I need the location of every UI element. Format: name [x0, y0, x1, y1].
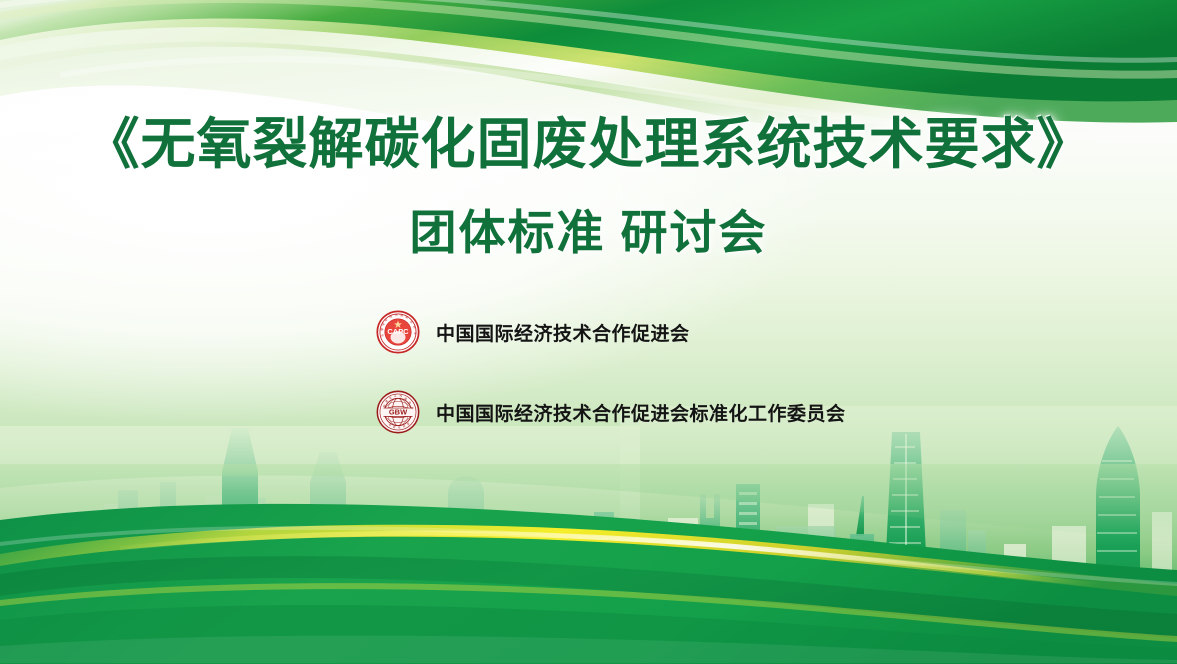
slide-content: 《无氧裂解碳化固废处理系统技术要求》 团体标准 研讨会	[0, 0, 1177, 664]
gbw-seal-logo: GBW 标 准 化 工 作 委 员 会	[376, 390, 420, 434]
organization-list: CAPC 中 国 国 际 经 济 技 术 合 作	[376, 306, 846, 466]
organization-name-capc: 中国国际经济技术合作促进会	[436, 319, 690, 346]
organization-row-capc: CAPC 中 国 国 际 经 济 技 术 合 作	[376, 306, 846, 358]
capc-seal-logo: CAPC 中 国 国 际 经 济 技 术 合 作	[376, 310, 420, 354]
capc-seal-text: CAPC	[387, 327, 409, 336]
page-subtitle: 团体标准 研讨会	[0, 205, 1177, 261]
gbw-seal-text: GBW	[389, 408, 408, 417]
svg-text:济: 济	[395, 312, 398, 317]
organization-row-gbw: GBW 标 准 化 工 作 委 员 会	[376, 386, 846, 438]
page-title: 《无氧裂解碳化固废处理系统技术要求》	[0, 112, 1177, 177]
presentation-title-slide: 《无氧裂解碳化固废处理系统技术要求》 团体标准 研讨会	[0, 0, 1177, 664]
organization-name-gbw: 中国国际经济技术合作促进会标准化工作委员会	[436, 399, 846, 426]
